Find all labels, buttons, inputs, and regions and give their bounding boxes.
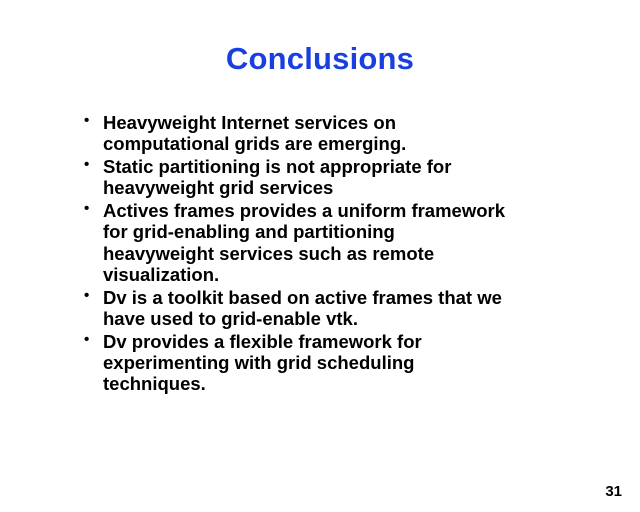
list-item-text: Static partitioning is not appropriate f… <box>103 156 623 199</box>
slide: Conclusions • Heavyweight Internet servi… <box>0 0 640 512</box>
bullet-point-icon: • <box>84 288 89 303</box>
bullet-point-icon: • <box>84 332 89 347</box>
page-number: 31 <box>605 483 622 500</box>
list-item-text: Dv is a toolkit based on active frames t… <box>103 287 623 330</box>
list-item-text: Actives frames provides a uniform framew… <box>103 200 623 286</box>
page-title: Conclusions <box>0 41 640 77</box>
list-item: • Heavyweight Internet services on compu… <box>78 112 623 155</box>
bullet-point-icon: • <box>84 113 89 128</box>
bullet-point-icon: • <box>84 157 89 172</box>
list-item: • Dv provides a flexible framework for e… <box>78 331 623 395</box>
bullet-list: • Heavyweight Internet services on compu… <box>78 112 623 396</box>
list-item-text: Heavyweight Internet services on computa… <box>103 112 623 155</box>
bullet-point-icon: • <box>84 201 89 216</box>
list-item: • Actives frames provides a uniform fram… <box>78 200 623 286</box>
list-item: • Dv is a toolkit based on active frames… <box>78 287 623 330</box>
list-item-text: Dv provides a flexible framework for exp… <box>103 331 623 395</box>
list-item: • Static partitioning is not appropriate… <box>78 156 623 199</box>
